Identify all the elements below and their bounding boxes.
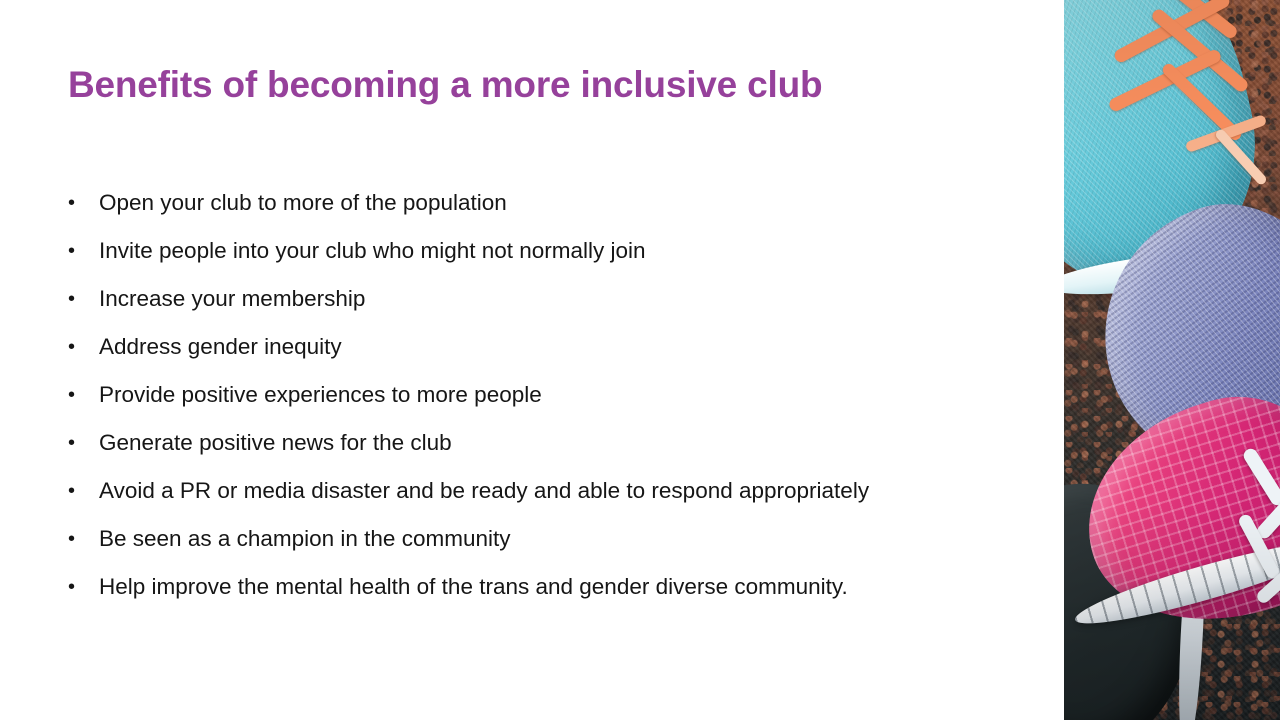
list-item: • Open your club to more of the populati… — [68, 179, 1053, 227]
slide: Benefits of becoming a more inclusive cl… — [0, 0, 1280, 720]
list-item-label: Invite people into your club who might n… — [99, 238, 646, 263]
list-item: • Help improve the mental health of the … — [68, 563, 1053, 611]
page-title: Benefits of becoming a more inclusive cl… — [68, 64, 1028, 105]
bullet-point-icon: • — [68, 515, 82, 563]
benefits-bullet-list: • Open your club to more of the populati… — [68, 179, 1053, 611]
bullet-point-icon: • — [68, 563, 82, 611]
list-item-label: Avoid a PR or media disaster and be read… — [99, 478, 869, 503]
list-item-label: Open your club to more of the population — [99, 190, 507, 215]
bullet-point-icon: • — [68, 275, 82, 323]
list-item-label: Increase your membership — [99, 286, 365, 311]
list-item: • Avoid a PR or media disaster and be re… — [68, 467, 1053, 515]
bullet-point-icon: • — [68, 323, 82, 371]
list-item: • Generate positive news for the club — [68, 419, 1053, 467]
bullet-point-icon: • — [68, 371, 82, 419]
list-item-label: Help improve the mental health of the tr… — [99, 574, 848, 599]
list-item-label: Provide positive experiences to more peo… — [99, 382, 542, 407]
list-item-label: Address gender inequity — [99, 334, 342, 359]
list-item: • Provide positive experiences to more p… — [68, 371, 1053, 419]
slide-content-area: Benefits of becoming a more inclusive cl… — [0, 0, 1064, 720]
list-item-label: Be seen as a champion in the community — [99, 526, 510, 551]
list-item: • Address gender inequity — [68, 323, 1053, 371]
bullet-point-icon: • — [68, 179, 82, 227]
running-shoes-photo — [1064, 0, 1280, 720]
bullet-point-icon: • — [68, 419, 82, 467]
bullet-point-icon: • — [68, 467, 82, 515]
list-item: • Increase your membership — [68, 275, 1053, 323]
bullet-point-icon: • — [68, 227, 82, 275]
list-item: • Be seen as a champion in the community — [68, 515, 1053, 563]
list-item: • Invite people into your club who might… — [68, 227, 1053, 275]
list-item-label: Generate positive news for the club — [99, 430, 452, 455]
